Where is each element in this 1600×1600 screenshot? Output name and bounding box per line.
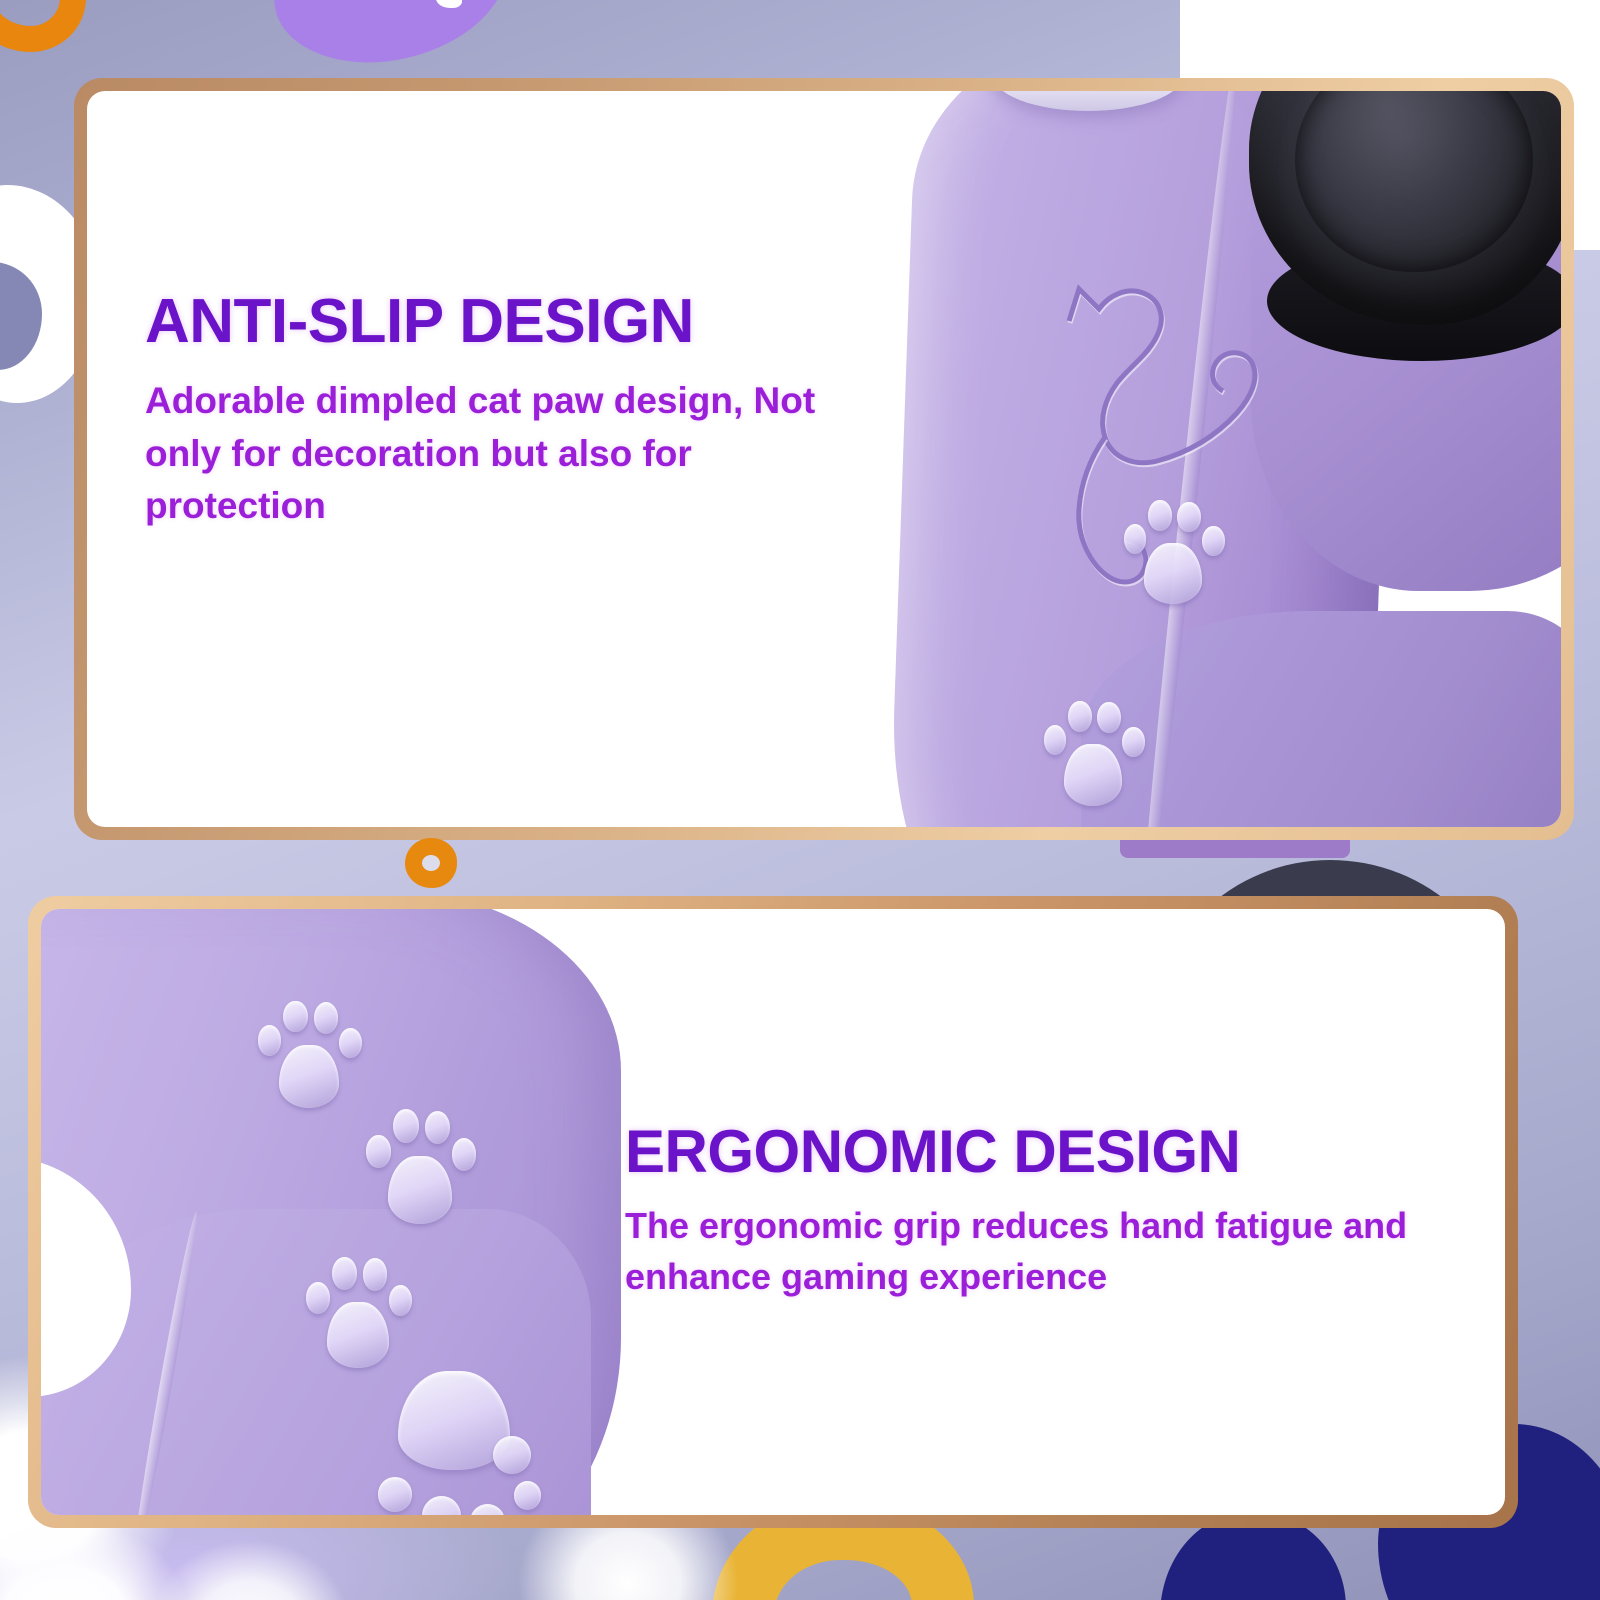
paw-toe [1122, 727, 1144, 757]
paw-toe [1177, 502, 1201, 533]
feature-card-anti-slip-surface: ANTI-SLIP DESIGN Adorable dimpled cat pa… [87, 91, 1561, 827]
paw-toe [1044, 725, 1066, 755]
feature-card-ergonomic: ERGONOMIC DESIGN The ergonomic grip redu… [28, 896, 1518, 1528]
connector-dot-hole [422, 855, 440, 871]
paw-toe [1148, 500, 1172, 531]
feature-body-text: The ergonomic grip reduces hand fatigue … [625, 1200, 1505, 1302]
paw-toe [1124, 524, 1146, 554]
feature-card-anti-slip: ANTI-SLIP DESIGN Adorable dimpled cat pa… [74, 78, 1574, 840]
violet-blob-decoration [262, 0, 521, 76]
card-connector-dot-icon [405, 838, 457, 888]
feature-heading: ANTI-SLIP DESIGN [145, 291, 867, 353]
orange-ring-icon [0, 0, 86, 52]
paw-pad [1064, 744, 1122, 806]
paw-print-icon [1037, 691, 1149, 811]
feature-card-ergonomic-surface: ERGONOMIC DESIGN The ergonomic grip redu… [41, 909, 1505, 1515]
paw-toe [1068, 701, 1092, 732]
paw-pad [1144, 543, 1202, 604]
feature-body-text: Adorable dimpled cat paw design, Not onl… [145, 375, 867, 533]
product-photo-anti-slip [781, 91, 1561, 827]
feature-text-ergonomic: ERGONOMIC DESIGN The ergonomic grip redu… [41, 909, 1505, 1515]
paw-toe [1202, 526, 1224, 556]
paw-print-icon [1117, 491, 1229, 609]
feature-text-anti-slip: ANTI-SLIP DESIGN Adorable dimpled cat pa… [87, 91, 867, 827]
paw-toe [1097, 702, 1121, 733]
feature-heading: ERGONOMIC DESIGN [625, 1122, 1505, 1182]
